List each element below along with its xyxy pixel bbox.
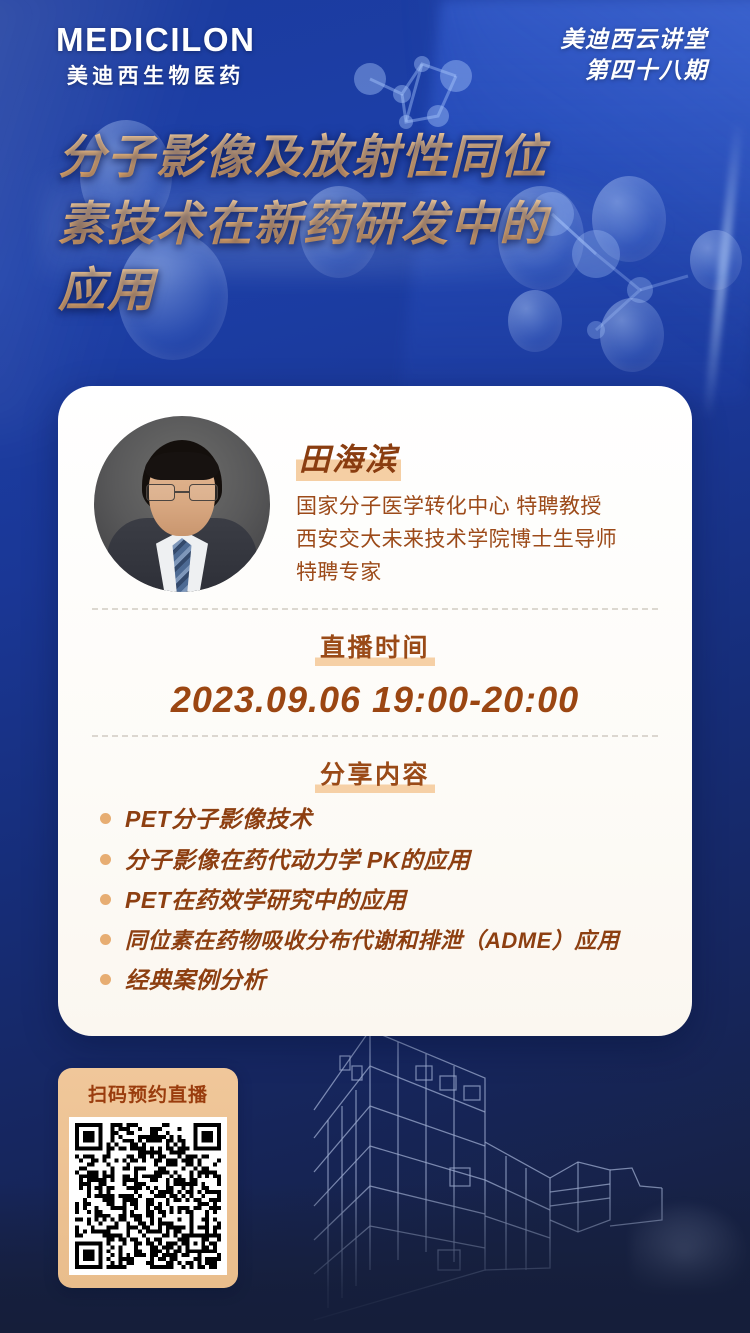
info-card: 田海滨 国家分子医学转化中心 特聘教授 西安交大未来技术学院博士生导师 特聘专家…	[58, 386, 692, 1036]
agenda-item-label: 分子影像在药代动力学 PK的应用	[125, 847, 470, 875]
list-item: 经典案例分析	[100, 967, 662, 995]
poster-header: MEDICILON 美迪西生物医药 美迪西云讲堂 第四十八期	[0, 0, 750, 110]
title-line-2: 素技术在新药研发中的	[58, 191, 698, 258]
schedule-heading-label: 直播时间	[315, 628, 435, 666]
speaker-info: 田海滨 国家分子医学转化中心 特聘教授 西安交大未来技术学院博士生导师 特聘专家	[296, 416, 617, 590]
series-line-1: 美迪西云讲堂	[560, 24, 708, 55]
background-light-streak	[702, 120, 743, 419]
agenda-list: PET分子影像技术 分子影像在药代动力学 PK的应用 PET在药效学研究中的应用…	[86, 806, 664, 995]
speaker-credential-line-2: 西安交大未来技术学院博士生导师	[296, 523, 617, 556]
schedule-datetime: 2023.09.06 19:00-20:00	[86, 679, 664, 721]
speaker-credentials: 国家分子医学转化中心 特聘教授 西安交大未来技术学院博士生导师 特聘专家	[296, 490, 617, 590]
building-line-art	[310, 1020, 750, 1333]
list-item: PET分子影像技术	[100, 806, 662, 834]
qr-code-icon[interactable]	[69, 1117, 227, 1275]
list-item: 分子影像在药代动力学 PK的应用	[100, 847, 662, 875]
brand-name-cn: 美迪西生物医药	[56, 66, 256, 87]
poster-root: MEDICILON 美迪西生物医药 美迪西云讲堂 第四十八期 分子影像及放射性同…	[0, 0, 750, 1333]
avatar-fringe	[145, 452, 219, 480]
list-item: PET在药效学研究中的应用	[100, 887, 662, 915]
agenda-heading: 分享内容	[86, 755, 664, 793]
divider-above-agenda	[92, 735, 658, 737]
brand-logo: MEDICILON 美迪西生物医药	[56, 23, 256, 87]
qr-card[interactable]: 扫码预约直播	[58, 1068, 238, 1288]
schedule-heading: 直播时间	[86, 628, 664, 666]
page-title: 分子影像及放射性同位 素技术在新药研发中的 应用	[58, 124, 698, 324]
brand-name-en: MEDICILON	[56, 23, 256, 56]
bullet-icon	[100, 934, 111, 945]
title-line-3: 应用	[58, 257, 698, 324]
agenda-item-label: 经典案例分析	[125, 967, 266, 995]
agenda-heading-label: 分享内容	[315, 755, 435, 793]
series-line-2: 第四十八期	[560, 55, 708, 86]
divider-above-schedule	[92, 608, 658, 610]
speaker-credential-line-3: 特聘专家	[296, 556, 617, 589]
avatar	[94, 416, 270, 592]
agenda-item-label: PET在药效学研究中的应用	[125, 887, 406, 915]
agenda-item-label: PET分子影像技术	[125, 806, 312, 834]
bullet-icon	[100, 894, 111, 905]
glasses-icon	[146, 484, 218, 501]
speaker-credential-line-1: 国家分子医学转化中心 特聘教授	[296, 490, 617, 523]
bullet-icon	[100, 813, 111, 824]
speaker-block: 田海滨 国家分子医学转化中心 特聘教授 西安交大未来技术学院博士生导师 特聘专家	[86, 410, 664, 592]
agenda-item-label: 同位素在药物吸收分布代谢和排泄（ADME）应用	[125, 928, 619, 954]
series-badge: 美迪西云讲堂 第四十八期	[560, 24, 708, 86]
shrub-decor	[630, 1200, 750, 1290]
title-line-1: 分子影像及放射性同位	[58, 124, 698, 191]
list-item: 同位素在药物吸收分布代谢和排泄（ADME）应用	[100, 928, 662, 954]
speaker-name: 田海滨	[296, 434, 401, 481]
qr-label: 扫码预约直播	[69, 1080, 227, 1107]
bullet-icon	[100, 974, 111, 985]
bullet-icon	[100, 854, 111, 865]
